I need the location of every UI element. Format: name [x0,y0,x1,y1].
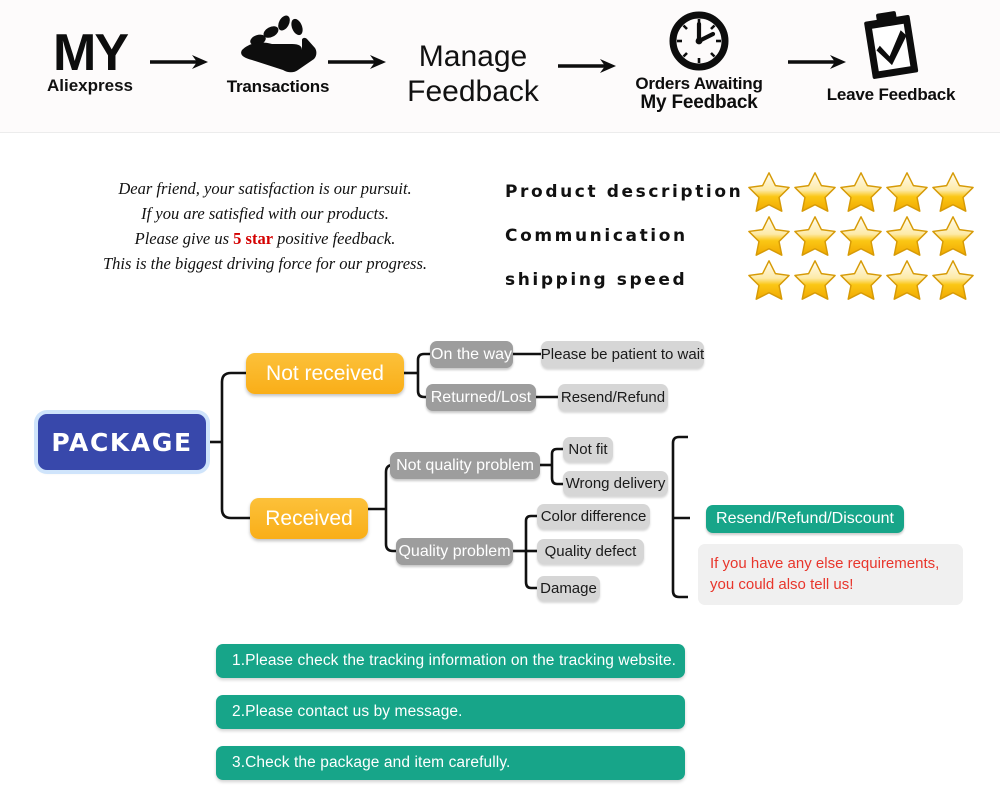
star-rating-communication[interactable] [747,215,975,257]
rating-row-communication: Communication [505,214,975,258]
flow-node-label: Resend/Refund/Discount [716,510,894,528]
pitch-line-2: If you are satisfied with our products. [50,201,480,226]
pitch-line-3: Please give us 5 star positive feedback. [50,226,480,251]
pitch-line-4: This is the biggest driving force for ou… [50,251,480,276]
flow-node-label: Color difference [541,508,647,525]
orders-awaiting-line2: My Feedback [613,93,785,113]
satisfaction-pitch: Dear friend, your satisfaction is our pu… [50,176,480,276]
header-step-orders-awaiting[interactable]: Orders Awaiting My Feedback [613,10,785,113]
ratings-block: Product description Communication shippi… [505,170,975,302]
arrow-right-icon [148,52,214,72]
five-star-highlight: 5 star [233,229,273,248]
instruction-text: 1.Please check the tracking information … [232,652,676,670]
flow-node-label: Returned/Lost [431,389,532,407]
flow-node-label: Quality defect [545,543,637,560]
flow-note-extra-requirements: If you have any else requirements, you c… [698,544,963,605]
flow-leaf-wrong-delivery[interactable]: Wrong delivery [563,471,668,496]
flow-leaf-quality-defect[interactable]: Quality defect [537,539,644,564]
star-filled-icon [747,215,791,257]
manage-feedback-line1: Manage [398,40,548,75]
pitch-line-1: Dear friend, your satisfaction is our pu… [50,176,480,201]
my-aliexpress-sublabel: Aliexpress [34,76,146,96]
flow-node-label: PACKAGE [51,428,192,457]
star-filled-icon [747,259,791,301]
clock-icon [613,10,785,72]
flow-node-label: Received [265,507,353,531]
flow-node-not-quality-problem[interactable]: Not quality problem [390,452,540,479]
flow-node-returned-lost[interactable]: Returned/Lost [426,384,536,411]
flow-node-package[interactable]: PACKAGE [38,414,206,470]
flow-node-label: Resend/Refund [561,389,665,406]
instruction-bar-2[interactable]: 2.Please contact us by message. [216,695,685,729]
rating-row-product-description: Product description [505,170,975,214]
star-filled-icon [885,171,929,213]
flow-node-label: Quality problem [398,543,510,561]
header-step-leave-feedback[interactable]: Leave Feedback [810,8,972,104]
flow-node-label: Please be patient to wait [541,346,704,363]
transactions-label: Transactions [208,78,348,96]
package-flowchart: PACKAGE Not received Received On the way… [0,320,1000,620]
flow-note-line-1: If you have any else requirements, [710,555,939,572]
flow-node-on-the-way[interactable]: On the way [430,341,513,368]
star-filled-icon [793,171,837,213]
star-filled-icon [793,259,837,301]
flow-result-on-the-way[interactable]: Please be patient to wait [541,341,704,368]
flow-node-not-received[interactable]: Not received [246,353,404,394]
rating-row-shipping-speed: shipping speed [505,258,975,302]
instruction-bar-1[interactable]: 1.Please check the tracking information … [216,644,685,678]
instruction-text: 2.Please contact us by message. [232,703,463,721]
star-rating-shipping-speed[interactable] [747,259,975,301]
flow-node-label: Not received [266,362,384,386]
promo-page: MY Aliexpress Transacti [0,0,1000,799]
rating-label: Communication [505,226,747,246]
instruction-text: 3.Check the package and item carefully. [232,754,510,772]
process-header: MY Aliexpress Transacti [0,0,1000,133]
my-aliexpress-wordmark: MY [34,30,146,78]
flow-node-quality-problem[interactable]: Quality problem [396,538,513,565]
star-filled-icon [885,259,929,301]
flow-outcome-resend-refund-discount[interactable]: Resend/Refund/Discount [706,505,904,533]
star-filled-icon [839,259,883,301]
star-rating-product-description[interactable] [747,171,975,213]
header-step-manage-feedback[interactable]: Manage Feedback [398,40,548,110]
manage-feedback-line2: Feedback [398,75,548,110]
rating-label: Product description [505,182,747,202]
pitch-line-3-before: Please give us [135,229,234,248]
flow-node-label: Damage [540,580,597,597]
star-filled-icon [839,171,883,213]
header-step-my-aliexpress[interactable]: MY Aliexpress [34,30,146,96]
flow-leaf-not-fit[interactable]: Not fit [563,437,613,462]
star-filled-icon [747,171,791,213]
pitch-line-3-after: positive feedback. [273,229,395,248]
leave-feedback-label: Leave Feedback [810,86,972,104]
star-filled-icon [793,215,837,257]
flow-node-label: Not fit [568,441,607,458]
flow-node-received[interactable]: Received [250,498,368,539]
star-filled-icon [931,259,975,301]
flow-leaf-damage[interactable]: Damage [537,576,600,601]
flow-node-label: On the way [431,346,512,364]
star-filled-icon [839,215,883,257]
flow-node-label: Wrong delivery [566,475,666,492]
star-filled-icon [931,215,975,257]
clipboard-check-icon [810,8,972,84]
star-filled-icon [885,215,929,257]
flow-leaf-color-difference[interactable]: Color difference [537,504,650,529]
flow-node-label: Not quality problem [396,457,534,475]
flow-note-line-2: you could also tell us! [710,576,853,593]
rating-label: shipping speed [505,270,747,290]
star-filled-icon [931,171,975,213]
instruction-bar-3[interactable]: 3.Check the package and item carefully. [216,746,685,780]
flow-result-returned-lost[interactable]: Resend/Refund [558,384,668,411]
orders-awaiting-line1: Orders Awaiting [613,75,785,93]
arrow-right-icon [326,52,392,72]
